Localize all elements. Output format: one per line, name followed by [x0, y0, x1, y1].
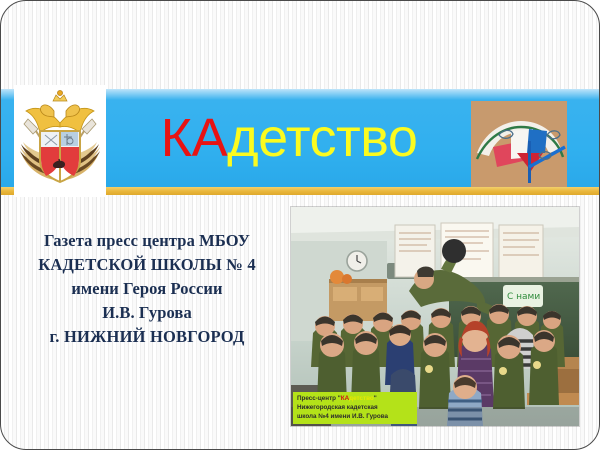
caption-accent-yellow: детство	[349, 395, 374, 402]
masthead-line-5: г. НИЖНИЙ НОВГОРОД	[7, 325, 287, 349]
caption-accent-red: КА	[341, 395, 349, 402]
masthead-line-4: И.В. Гурова	[7, 301, 287, 325]
photo-caption: Пресс-центр "КАдетство" Нижегородская ка…	[293, 392, 417, 424]
group-photo: С нами	[291, 207, 579, 426]
title-segment-yellow: детство	[227, 108, 417, 168]
masthead-text-block: Газета пресс центра МБОУ КАДЕТСКОЙ ШКОЛЫ…	[7, 229, 287, 349]
slide-canvas: КАдетство Га	[0, 0, 600, 450]
title-container: КАдетство	[109, 89, 469, 187]
page-title: КАдетство	[161, 111, 418, 165]
photo-caption-line-2: Нижегородская кадетская	[297, 403, 414, 412]
title-segment-red: КА	[161, 108, 227, 168]
photo-caption-line-3: школа №4 имени И.В. Гурова	[297, 412, 414, 421]
masthead-line-2: КАДЕТСКОЙ ШКОЛЫ № 4	[7, 253, 287, 277]
masthead-line-3: имени Героя России	[7, 277, 287, 301]
masthead-line-1: Газета пресс центра МБОУ	[7, 229, 287, 253]
svg-text:С нами: С нами	[507, 292, 540, 302]
kadet-emblem-icon	[471, 101, 567, 187]
caption-prefix: Пресс-центр "	[297, 395, 341, 402]
coat-of-arms-icon	[14, 85, 106, 197]
photo-caption-line-1: Пресс-центр "КАдетство"	[297, 394, 414, 403]
caption-suffix: "	[374, 395, 377, 402]
